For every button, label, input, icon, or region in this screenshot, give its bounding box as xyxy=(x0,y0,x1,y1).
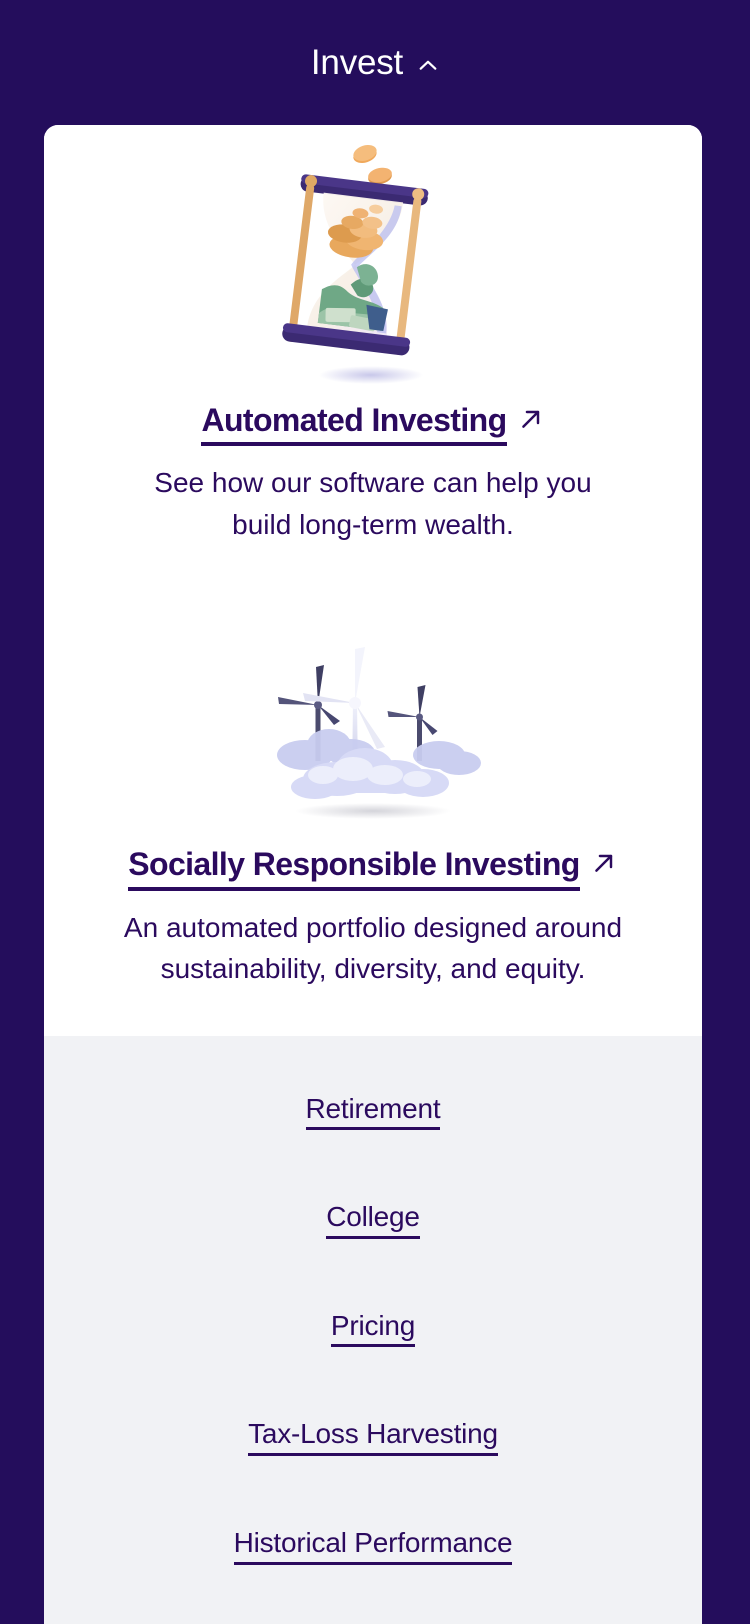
feature-section: Automated Investing See how our software… xyxy=(44,125,702,990)
hourglass-with-coins-illustration xyxy=(253,137,493,387)
feature-socially-responsible-investing[interactable]: Socially Responsible Investing An automa… xyxy=(72,545,674,989)
feature-automated-investing[interactable]: Automated Investing See how our software… xyxy=(72,125,674,545)
feature-description: See how our software can help you build … xyxy=(123,462,623,545)
feature-title: Socially Responsible Investing xyxy=(128,845,579,890)
chevron-up-icon[interactable] xyxy=(417,54,439,76)
arrow-up-right-icon xyxy=(590,849,618,877)
nav-link-retirement[interactable]: Retirement xyxy=(306,1092,441,1131)
wind-turbines-clouds-illustration xyxy=(253,633,493,823)
feature-title-row[interactable]: Socially Responsible Investing xyxy=(128,845,617,890)
feature-description: An automated portfolio designed around s… xyxy=(121,907,626,990)
nav-link-pricing[interactable]: Pricing xyxy=(331,1309,415,1348)
secondary-links-section: Retirement College Pricing Tax-Loss Harv… xyxy=(44,1036,702,1624)
feature-title-row[interactable]: Automated Investing xyxy=(201,401,544,446)
feature-title: Automated Investing xyxy=(201,401,506,446)
menu-header[interactable]: Invest xyxy=(0,0,750,125)
nav-link-historical-performance[interactable]: Historical Performance xyxy=(234,1526,513,1565)
menu-header-title: Invest xyxy=(311,45,403,80)
nav-link-tax-loss-harvesting[interactable]: Tax-Loss Harvesting xyxy=(248,1417,498,1456)
nav-link-college[interactable]: College xyxy=(326,1200,420,1239)
arrow-up-right-icon xyxy=(517,405,545,433)
invest-menu-panel: Automated Investing See how our software… xyxy=(44,125,702,1624)
